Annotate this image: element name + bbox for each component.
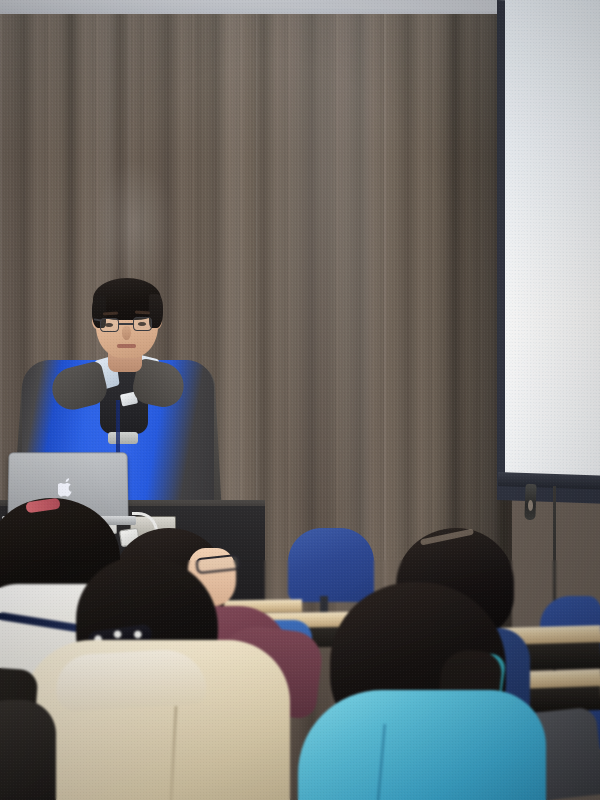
curtain-smudge: [95, 160, 175, 290]
student-cream-hood: [55, 648, 208, 712]
photograph-lecture-presentation: Lecture hall presentation A man in a blu…: [0, 0, 600, 800]
curtain-highlight: [250, 14, 400, 514]
student-foreground-left: [0, 700, 56, 800]
eyeglasses-bridge: [119, 323, 133, 325]
blue-chair: [288, 528, 374, 602]
eyeglasses-lens-left-icon: [100, 318, 119, 332]
presenter-nose: [122, 326, 131, 340]
projection-screen-texture: [505, 0, 600, 487]
presenter-mouth: [117, 344, 136, 348]
screen-handle-hole: [528, 500, 533, 511]
eyeglasses-lens-right-icon: [133, 317, 152, 331]
apple-logo-icon: [58, 478, 75, 497]
presenter-sweater-trim: [108, 432, 138, 444]
student-cyan-jacket: [298, 690, 546, 800]
